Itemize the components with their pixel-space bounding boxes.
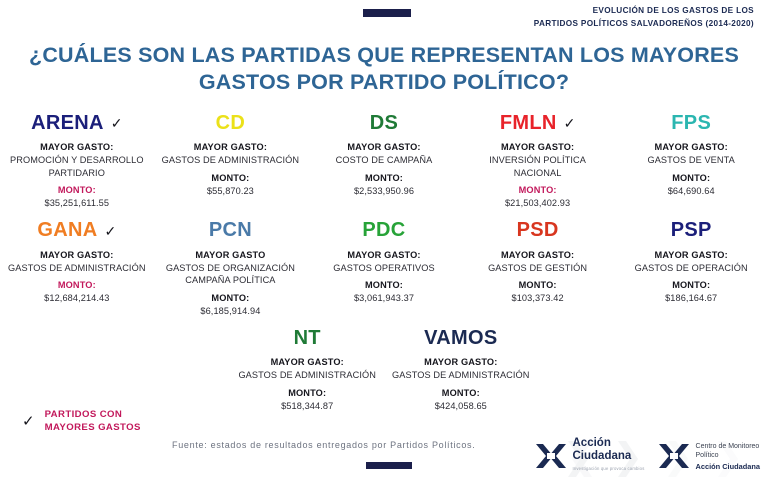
mayor-gasto-label: MAYOR GASTO: bbox=[6, 141, 148, 153]
legend: ✓ PARTIDOS CON MAYORES GASTOS bbox=[22, 408, 141, 434]
accion-ciudadana-x-icon bbox=[534, 441, 568, 471]
top-spender-check-icon: ✓ bbox=[111, 116, 123, 130]
centro-monitoreo-x-icon bbox=[657, 441, 691, 471]
page-title-line2: GASTOS POR PARTIDO POLÍTICO? bbox=[0, 69, 768, 96]
monto-value: $55,870.23 bbox=[160, 185, 302, 198]
party-name: CD bbox=[216, 112, 246, 135]
mayor-gasto-value: GASTOS DE ADMINISTRACIÓN bbox=[6, 262, 148, 275]
monto-label: MONTO: bbox=[6, 184, 148, 196]
monto-value: $186,164.67 bbox=[620, 292, 762, 305]
logo1-line1: Acción bbox=[573, 437, 611, 449]
mayor-gasto-value: PROMOCIÓN Y DESARROLLO PARTIDARIO bbox=[6, 154, 148, 179]
party-name: GANA bbox=[37, 219, 97, 242]
monto-value: $2,533,950.96 bbox=[313, 185, 455, 198]
party-name-line: PCN bbox=[160, 218, 302, 244]
mayor-gasto-label: MAYOR GASTO: bbox=[620, 249, 762, 261]
legend-label-line1: PARTIDOS CON bbox=[45, 409, 123, 420]
page-title-line1: ¿CUÁLES SON LAS PARTIDAS QUE REPRESENTAN… bbox=[0, 42, 768, 69]
mayor-gasto-value: INVERSIÓN POLÍTICA NACIONAL bbox=[467, 154, 609, 179]
monto-label: MONTO: bbox=[236, 387, 378, 399]
monto-label: MONTO: bbox=[160, 292, 302, 304]
monto-value: $103,373.42 bbox=[467, 292, 609, 305]
legend-label-line2: MAYORES GASTOS bbox=[45, 422, 141, 433]
monto-value: $64,690.64 bbox=[620, 185, 762, 198]
party-name: VAMOS bbox=[424, 327, 497, 350]
party-name: DS bbox=[370, 112, 398, 135]
party-name-line: PSD bbox=[467, 218, 609, 244]
party-name: NT bbox=[294, 327, 321, 350]
footer-accent-bar bbox=[366, 462, 412, 469]
party-name-line: GANA ✓ bbox=[6, 218, 148, 244]
logo-centro-monitoreo: Centro de Monitoreo Político Acción Ciud… bbox=[657, 441, 760, 471]
monto-value: $21,503,402.93 bbox=[467, 197, 609, 210]
header-subtitle-line2: PARTIDOS POLÍTICOS SALVADOREÑOS (2014-20… bbox=[534, 17, 754, 30]
mayor-gasto-label: MAYOR GASTO: bbox=[6, 249, 148, 261]
mayor-gasto-value: GASTOS DE OPERACIÓN bbox=[620, 262, 762, 275]
logo1-line2: Ciudadana bbox=[573, 450, 632, 462]
party-name-line: VAMOS bbox=[390, 325, 532, 351]
party-name-line: FMLN ✓ bbox=[467, 110, 609, 136]
mayor-gasto-label: MAYOR GASTO: bbox=[620, 141, 762, 153]
party-name-line: ARENA ✓ bbox=[6, 110, 148, 136]
mayor-gasto-label: MAYOR GASTO: bbox=[467, 249, 609, 261]
monto-label: MONTO: bbox=[467, 279, 609, 291]
party-card-psp: PSP MAYOR GASTO: GASTOS DE OPERACIÓN MON… bbox=[614, 218, 768, 305]
party-card-fps: FPS MAYOR GASTO: GASTOS DE VENTA MONTO: … bbox=[614, 110, 768, 197]
legend-label: PARTIDOS CON MAYORES GASTOS bbox=[45, 408, 141, 434]
party-name: FMLN bbox=[500, 112, 557, 135]
party-card-pdc: PDC MAYOR GASTO: GASTOS OPERATIVOS MONTO… bbox=[307, 218, 461, 305]
mayor-gasto-label: MAYOR GASTO: bbox=[236, 356, 378, 368]
header: EVOLUCIÓN DE LOS GASTOS DE LOS PARTIDOS … bbox=[0, 0, 768, 36]
party-name: ARENA bbox=[31, 112, 104, 135]
party-card-nt: NT MAYOR GASTO: GASTOS DE ADMINISTRACIÓN… bbox=[230, 325, 384, 412]
mayor-gasto-label: MAYOR GASTO: bbox=[467, 141, 609, 153]
logo2-line2: Político bbox=[696, 452, 719, 459]
party-name: FPS bbox=[671, 112, 711, 135]
mayor-gasto-value: COSTO DE CAMPAÑA bbox=[313, 154, 455, 167]
party-name-line: FPS bbox=[620, 110, 762, 136]
logo2-line1: Centro de Monitoreo bbox=[696, 443, 760, 450]
party-card-pcn: PCN MAYOR GASTO GASTOS DE ORGANIZACIÓN C… bbox=[154, 218, 308, 318]
party-name-line: CD bbox=[160, 110, 302, 136]
monto-value: $3,061,943.37 bbox=[313, 292, 455, 305]
party-name: PCN bbox=[209, 219, 252, 242]
header-subtitle: EVOLUCIÓN DE LOS GASTOS DE LOS PARTIDOS … bbox=[534, 4, 754, 30]
mayor-gasto-value: GASTOS DE ADMINISTRACIÓN bbox=[236, 369, 378, 382]
mayor-gasto-value: GASTOS DE ADMINISTRACIÓN bbox=[390, 369, 532, 382]
mayor-gasto-value: GASTOS DE GESTIÓN bbox=[467, 262, 609, 275]
mayor-gasto-label: MAYOR GASTO: bbox=[313, 249, 455, 261]
monto-label: MONTO: bbox=[6, 279, 148, 291]
monto-label: MONTO: bbox=[620, 172, 762, 184]
party-name-line: DS bbox=[313, 110, 455, 136]
accion-ciudadana-wordmark: Acción Ciudadana Investigación que provo… bbox=[573, 437, 645, 476]
monto-value: $518,344.87 bbox=[236, 400, 378, 413]
logo1-tagline: Investigación que provoca cambios bbox=[573, 463, 645, 476]
monto-label: MONTO: bbox=[390, 387, 532, 399]
party-row: ARENA ✓ MAYOR GASTO: PROMOCIÓN Y DESARRO… bbox=[0, 110, 768, 210]
party-card-fmln: FMLN ✓ MAYOR GASTO: INVERSIÓN POLÍTICA N… bbox=[461, 110, 615, 210]
mayor-gasto-label: MAYOR GASTO: bbox=[390, 356, 532, 368]
party-name-line: PDC bbox=[313, 218, 455, 244]
monto-value: $35,251,611.55 bbox=[6, 197, 148, 210]
logo2-line3: Acción Ciudadana bbox=[696, 462, 760, 471]
monto-value: $424,058.65 bbox=[390, 400, 532, 413]
monto-label: MONTO: bbox=[160, 172, 302, 184]
party-card-arena: ARENA ✓ MAYOR GASTO: PROMOCIÓN Y DESARRO… bbox=[0, 110, 154, 210]
logo-accion-ciudadana: Acción Ciudadana Investigación que provo… bbox=[534, 437, 645, 476]
top-spender-check-icon: ✓ bbox=[104, 224, 116, 238]
party-card-psd: PSD MAYOR GASTO: GASTOS DE GESTIÓN MONTO… bbox=[461, 218, 615, 305]
party-card-gana: GANA ✓ MAYOR GASTO: GASTOS DE ADMINISTRA… bbox=[0, 218, 154, 305]
party-name-line: PSP bbox=[620, 218, 762, 244]
party-name-line: NT bbox=[236, 325, 378, 351]
footer-logos: Acción Ciudadana Investigación que provo… bbox=[534, 437, 761, 476]
mayor-gasto-value: GASTOS DE ADMINISTRACIÓN bbox=[160, 154, 302, 167]
party-name: PDC bbox=[362, 219, 405, 242]
mayor-gasto-value: GASTOS DE VENTA bbox=[620, 154, 762, 167]
party-row: NT MAYOR GASTO: GASTOS DE ADMINISTRACIÓN… bbox=[0, 325, 768, 412]
party-name: PSD bbox=[517, 219, 559, 242]
party-name: PSP bbox=[671, 219, 712, 242]
mayor-gasto-label: MAYOR GASTO: bbox=[160, 141, 302, 153]
header-subtitle-line1: EVOLUCIÓN DE LOS GASTOS DE LOS bbox=[534, 4, 754, 17]
mayor-gasto-value: GASTOS OPERATIVOS bbox=[313, 262, 455, 275]
source-note: Fuente: estados de resultados entregados… bbox=[172, 440, 475, 450]
mayor-gasto-label: MAYOR GASTO: bbox=[313, 141, 455, 153]
monto-label: MONTO: bbox=[313, 279, 455, 291]
legend-check-icon: ✓ bbox=[22, 414, 35, 429]
top-spender-check-icon: ✓ bbox=[564, 116, 576, 130]
party-card-cd: CD MAYOR GASTO: GASTOS DE ADMINISTRACIÓN… bbox=[154, 110, 308, 197]
monto-label: MONTO: bbox=[467, 184, 609, 196]
party-row: GANA ✓ MAYOR GASTO: GASTOS DE ADMINISTRA… bbox=[0, 218, 768, 318]
mayor-gasto-value: GASTOS DE ORGANIZACIÓN CAMPAÑA POLÍTICA bbox=[160, 262, 302, 287]
party-card-vamos: VAMOS MAYOR GASTO: GASTOS DE ADMINISTRAC… bbox=[384, 325, 538, 412]
centro-monitoreo-wordmark: Centro de Monitoreo Político Acción Ciud… bbox=[696, 442, 760, 471]
monto-label: MONTO: bbox=[620, 279, 762, 291]
monto-value: $6,185,914.94 bbox=[160, 305, 302, 318]
party-card-ds: DS MAYOR GASTO: COSTO DE CAMPAÑA MONTO: … bbox=[307, 110, 461, 197]
header-accent-bar bbox=[363, 9, 411, 17]
party-grid: ARENA ✓ MAYOR GASTO: PROMOCIÓN Y DESARRO… bbox=[0, 110, 768, 412]
monto-label: MONTO: bbox=[313, 172, 455, 184]
mayor-gasto-label: MAYOR GASTO bbox=[160, 249, 302, 261]
page-title: ¿CUÁLES SON LAS PARTIDAS QUE REPRESENTAN… bbox=[0, 42, 768, 96]
monto-value: $12,684,214.43 bbox=[6, 292, 148, 305]
